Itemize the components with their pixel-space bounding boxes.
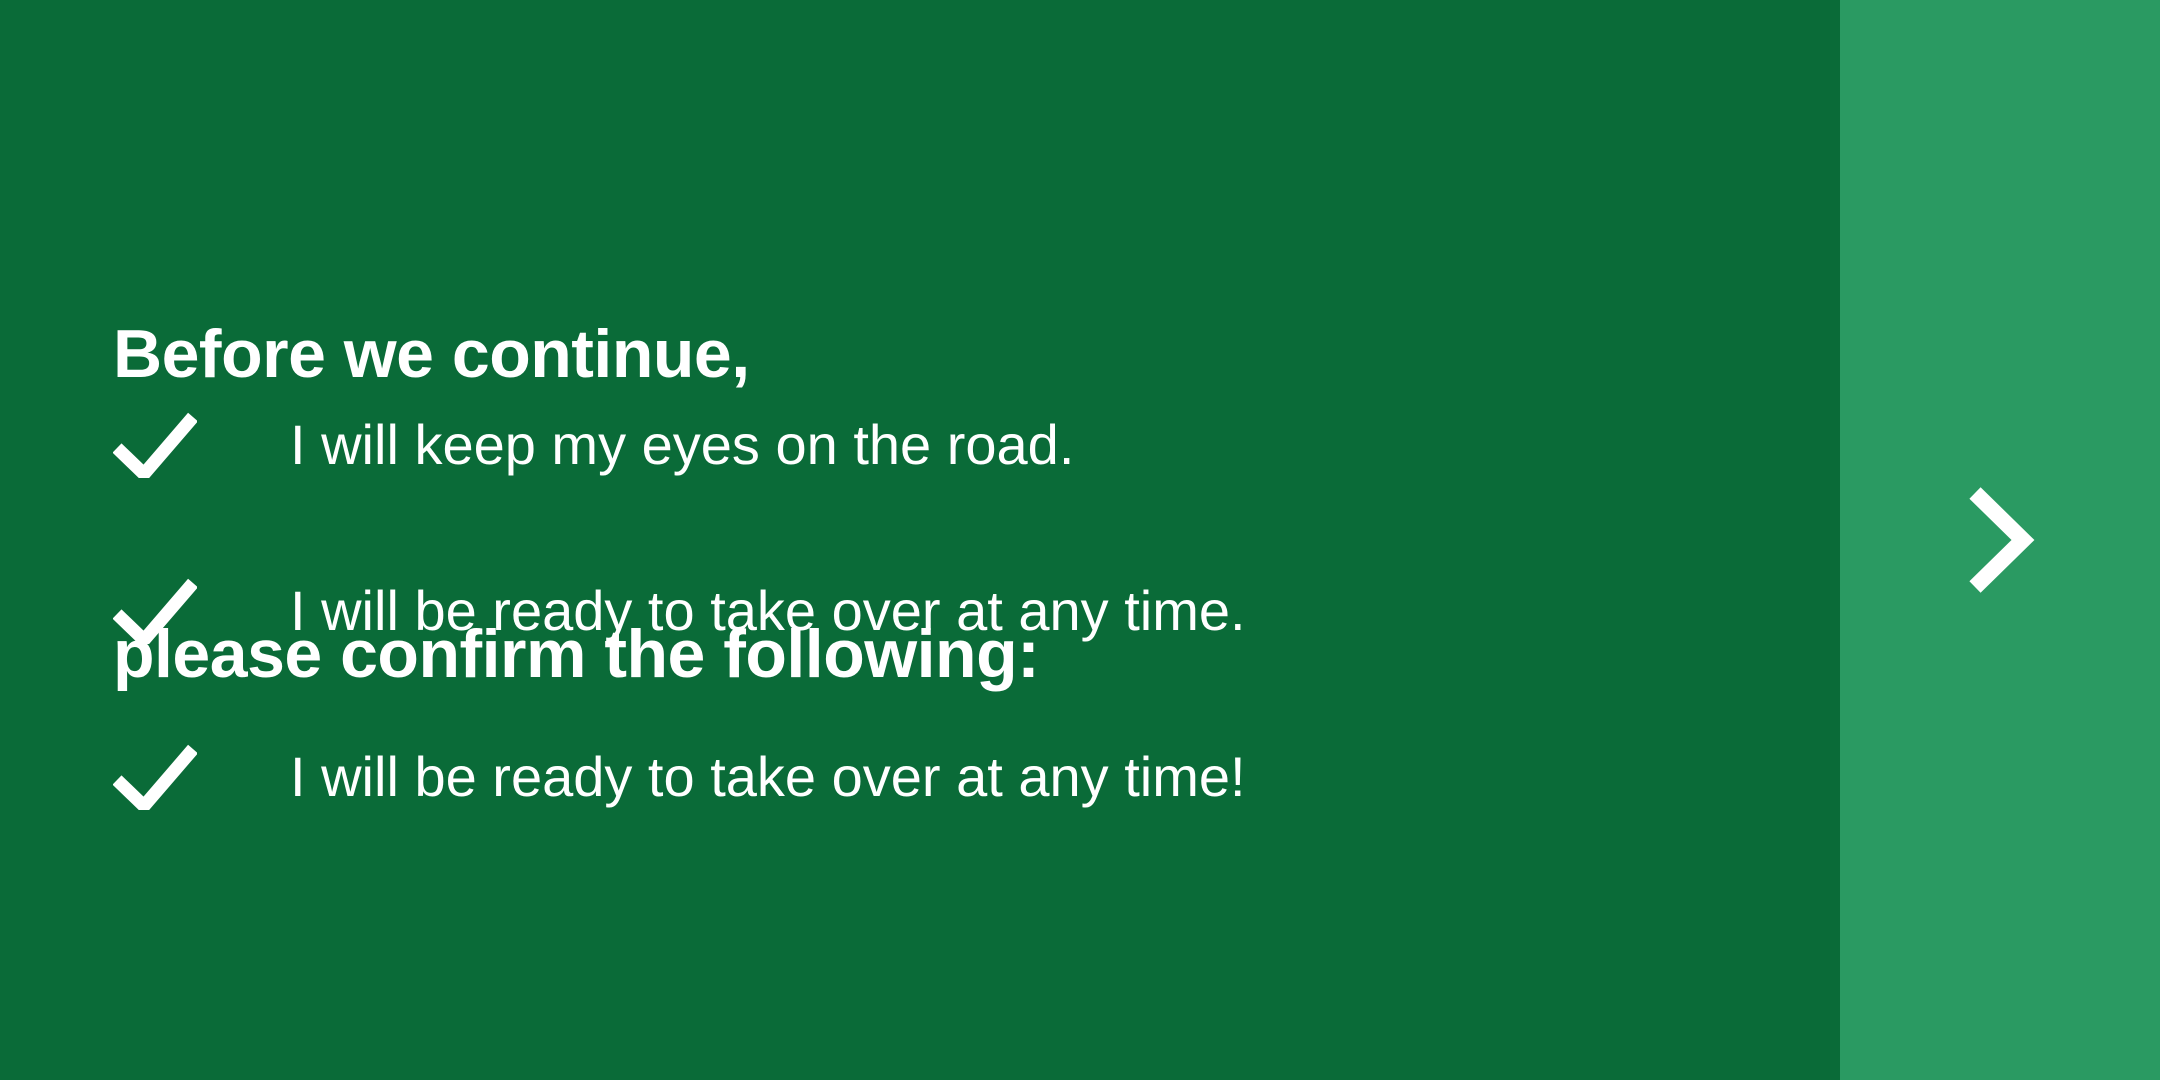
- list-item-label: I will keep my eyes on the road.: [290, 410, 1074, 480]
- check-icon: [113, 561, 213, 661]
- confirmation-screen: Before we continue, please confirm the f…: [0, 0, 2160, 1080]
- check-icon: [113, 727, 213, 827]
- list-item[interactable]: I will be ready to take over at any time…: [113, 561, 1713, 661]
- check-icon: [113, 395, 213, 495]
- next-button[interactable]: [1840, 0, 2160, 1080]
- list-item[interactable]: I will keep my eyes on the road.: [113, 395, 1713, 495]
- list-item-label: I will be ready to take over at any time…: [290, 576, 1246, 646]
- page-title-line-1: Before we continue,: [113, 304, 1039, 404]
- list-item-label: I will be ready to take over at any time…: [290, 742, 1246, 812]
- confirmation-checklist: I will keep my eyes on the road. I will …: [113, 395, 1713, 827]
- confirmation-panel: Before we continue, please confirm the f…: [0, 0, 1840, 1080]
- chevron-right-icon[interactable]: [1955, 475, 2045, 605]
- list-item[interactable]: I will be ready to take over at any time…: [113, 727, 1713, 827]
